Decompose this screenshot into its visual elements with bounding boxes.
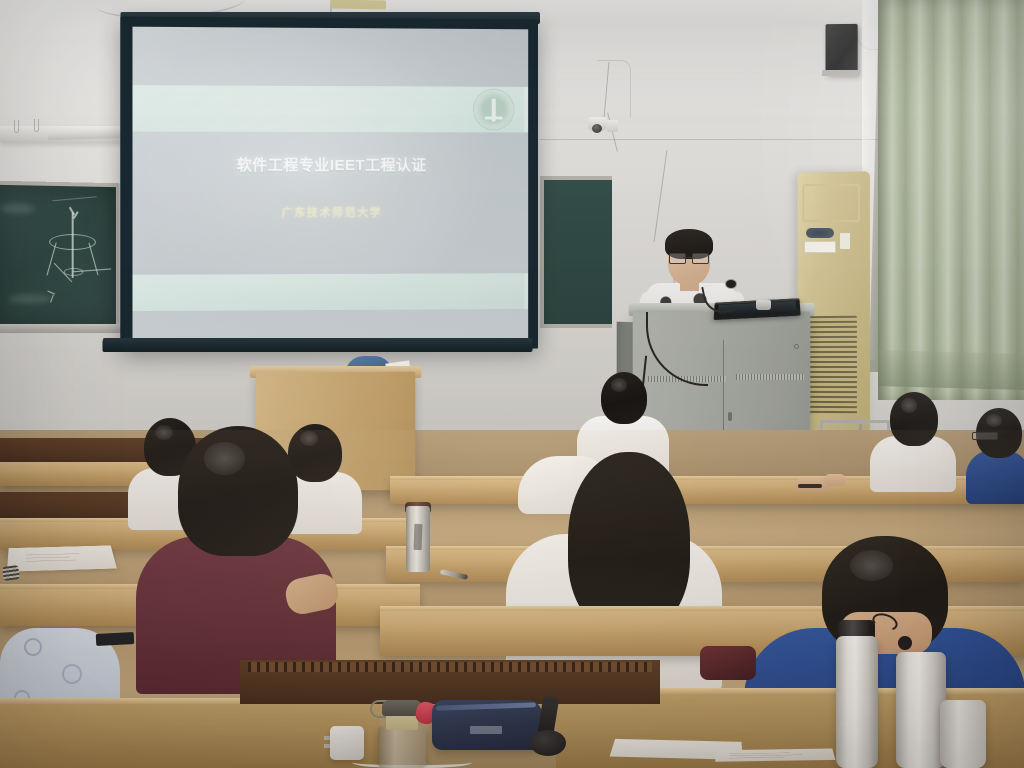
headphone-earcup [530, 730, 566, 756]
white-thermos-1 [836, 636, 878, 768]
desk-panel-detail [248, 662, 652, 672]
lecture-hall-photo: 软件工程专业IEET工程认证 广东技术师范大学 [0, 0, 1024, 768]
projection-screen: 软件工程专业IEET工程认证 广东技术师范大学 [120, 17, 538, 352]
glasses-icon [972, 432, 998, 440]
chalk-cone-side [47, 242, 57, 275]
screen-weight-bar [102, 338, 532, 352]
shirt-pattern [62, 664, 82, 684]
shirt-pattern [24, 638, 42, 656]
lectern-lock-icon [794, 344, 799, 349]
small-pouch [700, 646, 756, 680]
glasses-bridge [684, 257, 693, 258]
chalk-scribble [52, 196, 97, 201]
student-white-right [870, 392, 956, 488]
wrist-band [798, 484, 822, 488]
ac-display-panel [806, 228, 834, 238]
white-thermos-2 [896, 652, 946, 768]
ac-top-grille [802, 184, 860, 222]
university-seal-icon [473, 89, 514, 131]
slide-band-top [132, 85, 528, 132]
paper-line [730, 753, 790, 754]
blackboard-right [540, 176, 612, 328]
student-blue-right [966, 406, 1024, 498]
chalk-tray [0, 324, 122, 333]
speaker-bracket [822, 70, 861, 76]
student-long-hair [568, 452, 690, 632]
slide-title: 软件工程专业IEET工程认证 [132, 154, 528, 175]
curtain-hem [878, 350, 1024, 390]
notebook-line [26, 557, 70, 559]
lectern-handle [728, 412, 732, 421]
blackboard-left [0, 181, 120, 332]
camera-wire [597, 60, 631, 118]
student-hand [824, 474, 846, 486]
hook-icon [34, 119, 39, 132]
desk-row-foreground-left [0, 700, 380, 768]
white-thermos-3 [940, 700, 986, 768]
chalk-ellipse-base [64, 268, 83, 276]
smartphone [96, 632, 135, 646]
loose-papers [715, 749, 835, 762]
ac-label [804, 241, 836, 253]
wall-upper-left [0, 0, 128, 200]
slide-band-bottom [132, 273, 528, 311]
notebook-line [26, 553, 79, 555]
lectern-vent [736, 374, 804, 380]
chalk-smudge [0, 203, 34, 214]
student-longhair-center [506, 460, 722, 692]
water-bottle-pink-lid [378, 726, 426, 768]
hook-icon [14, 120, 19, 133]
student-head [601, 372, 647, 424]
notebook-line [26, 560, 76, 562]
window-curtain [878, 0, 1024, 400]
student-maroon [136, 426, 336, 694]
paper-line [730, 757, 785, 758]
chalk-smudge [8, 294, 52, 304]
wall-speaker [826, 24, 858, 74]
microphone-icon [726, 280, 736, 288]
pencil-case-logo [470, 726, 502, 734]
student-shirt [966, 450, 1024, 504]
desk-cup [756, 300, 771, 310]
open-notebook [7, 545, 117, 571]
student-head [890, 392, 938, 446]
paper-line [730, 755, 802, 757]
projected-slide: 软件工程专业IEET工程认证 广东技术师范大学 [132, 27, 528, 342]
student-head [178, 426, 298, 556]
ac-sticker [840, 233, 850, 249]
thermos-button [898, 636, 912, 650]
thermos-label [414, 524, 423, 550]
slide-subtitle: 广东技术师范大学 [132, 204, 528, 220]
camera-lens-icon [592, 124, 602, 133]
camera-junction-box [607, 120, 618, 132]
notebook-spiral-binding [2, 565, 20, 581]
